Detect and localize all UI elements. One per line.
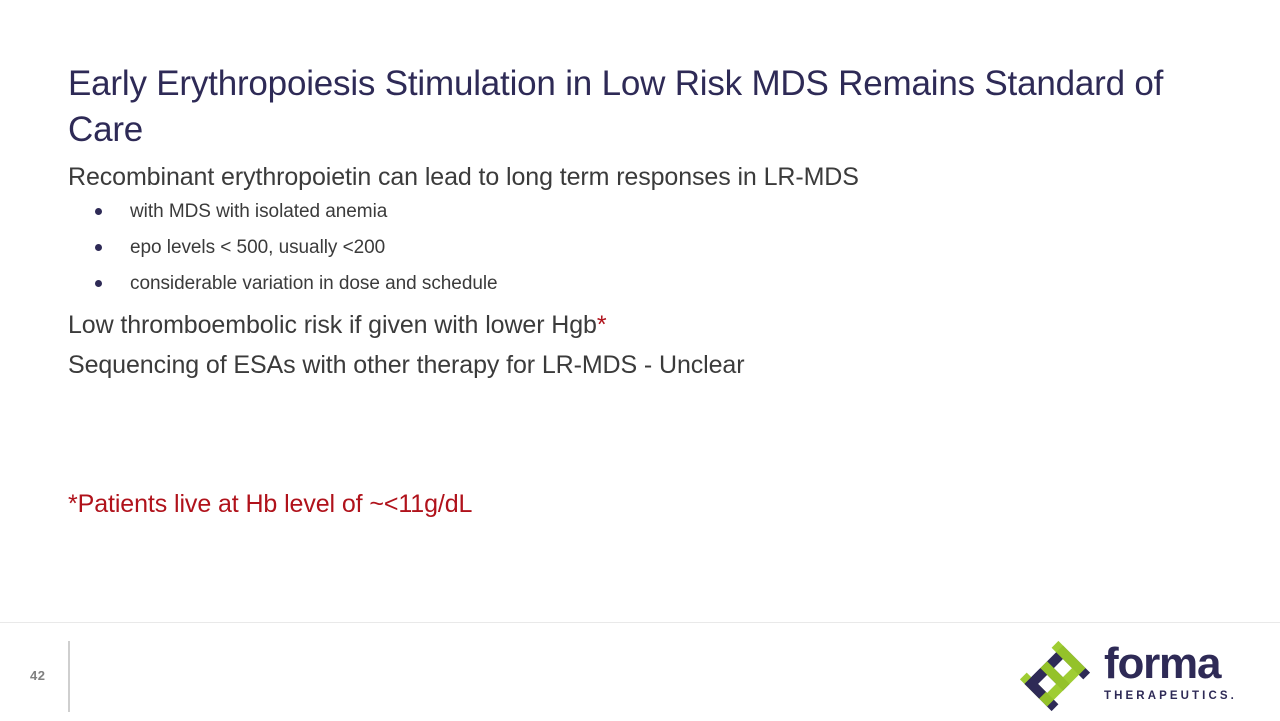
slide: Early Erythropoiesis Stimulation in Low …: [0, 0, 1280, 720]
forma-logo-wordmark: forma THERAPEUTICS.: [1104, 642, 1234, 702]
forma-logo-mark-icon: [1012, 636, 1098, 716]
page-number: 42: [30, 668, 45, 683]
bullet-dot-icon: [95, 208, 102, 215]
slide-title: Early Erythropoiesis Stimulation in Low …: [68, 61, 1218, 153]
body-lead-line: Recombinant erythropoietin can lead to l…: [68, 160, 1198, 194]
bullet-dot-icon: [95, 244, 102, 251]
body-line-thromboembolic-text: Low thromboembolic risk if given with lo…: [68, 311, 597, 339]
forma-wordmark-text: forma: [1104, 642, 1234, 686]
forma-therapeutics-logo: forma THERAPEUTICS.: [1012, 634, 1222, 718]
list-item-label: with MDS with isolated anemia: [130, 201, 387, 222]
footnote-text: *Patients live at Hb level of ~<11g/dL: [68, 487, 472, 521]
slide-body: Recombinant erythropoietin can lead to l…: [68, 160, 1198, 388]
sub-bullet-list: with MDS with isolated anemia epo levels…: [68, 200, 1198, 296]
list-item-label: epo levels < 500, usually <200: [130, 237, 385, 258]
body-line-thromboembolic: Low thromboembolic risk if given with lo…: [68, 308, 1198, 342]
body-line-sequencing: Sequencing of ESAs with other therapy fo…: [68, 348, 1198, 382]
footer-vertical-divider: [68, 641, 70, 712]
list-item: with MDS with isolated anemia: [68, 200, 1198, 224]
list-item: epo levels < 500, usually <200: [68, 236, 1198, 260]
list-item-label: considerable variation in dose and sched…: [130, 273, 498, 294]
footnote-marker: *: [597, 311, 607, 339]
bullet-dot-icon: [95, 280, 102, 287]
list-item: considerable variation in dose and sched…: [68, 272, 1198, 296]
footer-divider-rule: [0, 622, 1280, 623]
forma-tagline-text: THERAPEUTICS.: [1104, 690, 1234, 702]
